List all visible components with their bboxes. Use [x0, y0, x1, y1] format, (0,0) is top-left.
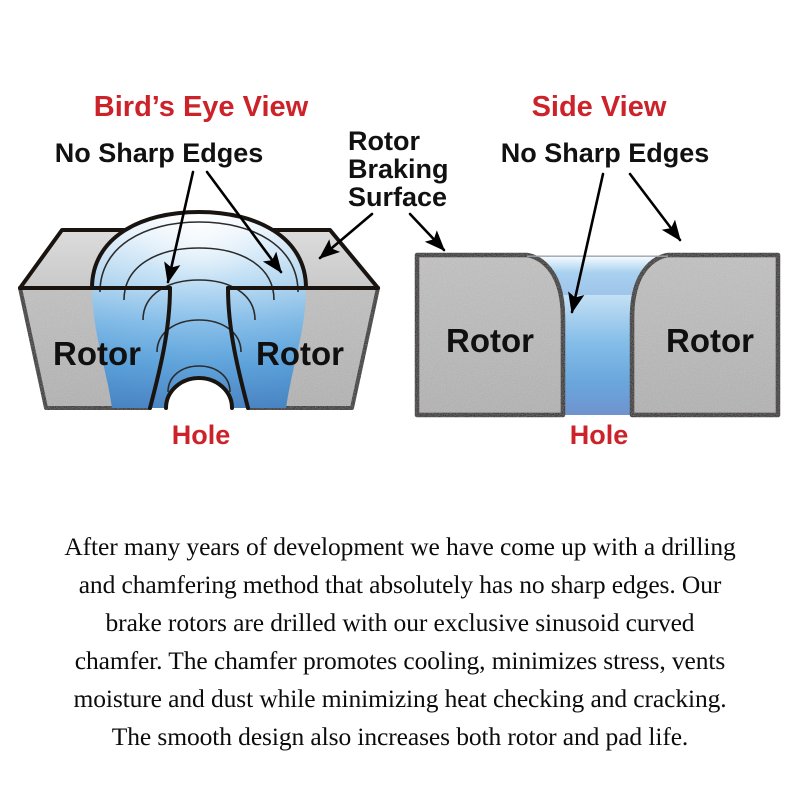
paragraph-line: moisture and dust while minimizing heat …: [8, 680, 792, 718]
rotor-braking-surface-line3: Surface: [348, 182, 447, 212]
no-sharp-edges-label-left: No Sharp Edges: [55, 138, 264, 168]
leader-braking-surface-to-right: [410, 214, 444, 250]
rotor-label-right-side: Rotor: [666, 322, 754, 359]
description-paragraph: After many years of development we have …: [8, 528, 792, 756]
paragraph-line: The smooth design also increases both ro…: [8, 718, 792, 756]
rotor-label-left-bev: Rotor: [53, 335, 141, 372]
rotor-label-right-bev: Rotor: [256, 335, 344, 372]
birds-eye-view-title: Bird’s Eye View: [94, 91, 309, 123]
rotor-chamfer-diagram: Rotor Rotor Bird’s Eye View No Sharp Edg…: [0, 0, 800, 500]
birds-eye-view-panel: Rotor Rotor Bird’s Eye View No Sharp Edg…: [20, 91, 378, 450]
rotor-braking-surface-line1: Rotor: [348, 126, 420, 156]
paragraph-line: brake rotors are drilled with our exclus…: [8, 604, 792, 642]
rotor-braking-surface-line2: Braking: [348, 154, 449, 184]
leader-no-sharp-edges-right-b: [630, 174, 680, 240]
no-sharp-edges-label-right: No Sharp Edges: [501, 138, 710, 168]
hole-label-left: Hole: [172, 420, 231, 450]
paragraph-line: and chamfering method that absolutely ha…: [8, 566, 792, 604]
paragraph-line: After many years of development we have …: [8, 528, 792, 566]
figure-stage: Rotor Rotor Bird’s Eye View No Sharp Edg…: [0, 0, 800, 800]
paragraph-line: chamfer. The chamfer promotes cooling, m…: [8, 642, 792, 680]
side-view-panel: Rotor Rotor Side View No Sharp Edges Hol…: [417, 91, 778, 450]
hole-label-right: Hole: [570, 420, 629, 450]
side-view-title: Side View: [532, 91, 667, 123]
rotor-label-left-side: Rotor: [446, 322, 534, 359]
